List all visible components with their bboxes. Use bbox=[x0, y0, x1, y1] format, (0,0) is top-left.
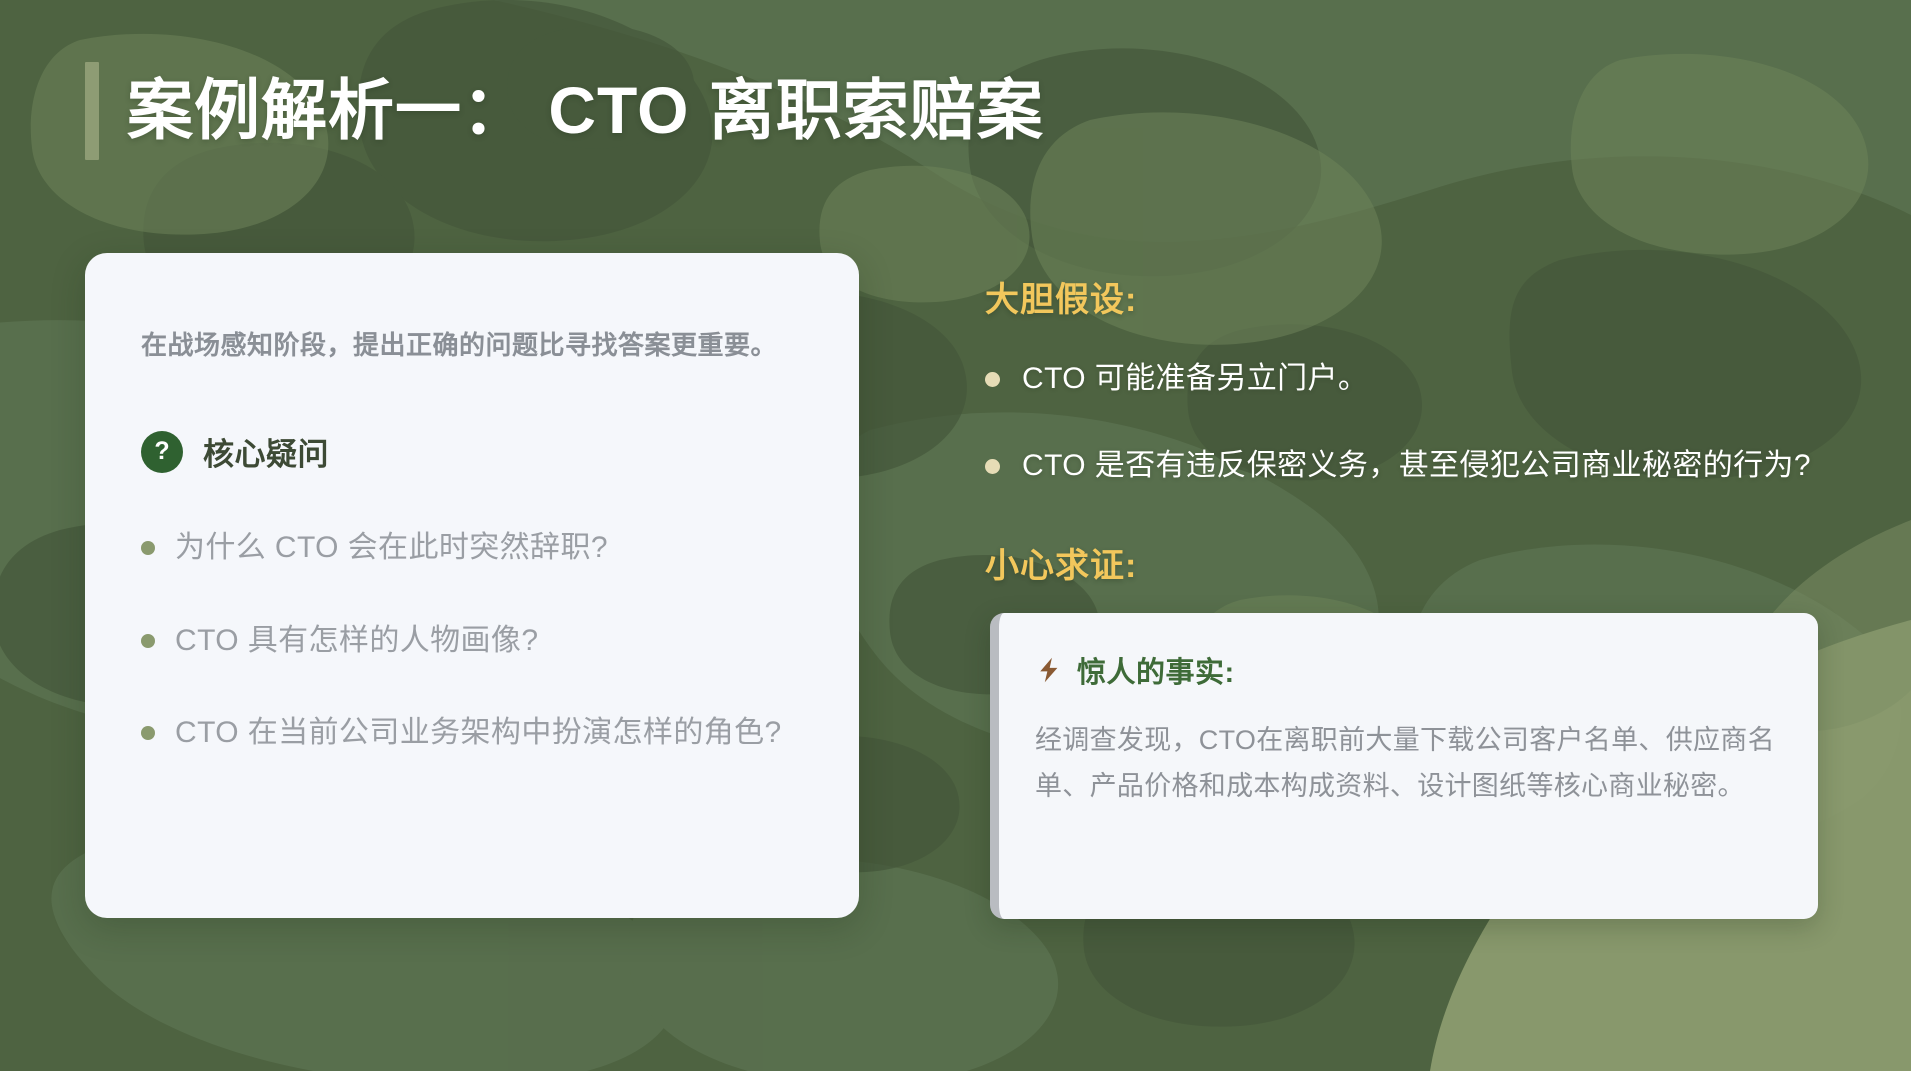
fact-body-text: 经调查发现，CTO在离职前大量下载公司客户名单、供应商名单、产品价格和成本构成资… bbox=[1035, 717, 1776, 810]
question-mark-icon: ? bbox=[141, 431, 183, 473]
fact-heading-row: 惊人的事实: bbox=[1035, 649, 1776, 691]
slide-canvas: 案例解析一： CTO 离职索赔案 在战场感知阶段，提出正确的问题比寻找答案更重要… bbox=[0, 0, 1911, 1071]
list-item: CTO 可能准备另立门户。 bbox=[985, 359, 1845, 400]
core-questions-heading-row: ? 核心疑问 bbox=[141, 429, 803, 474]
bullet-dot-icon bbox=[141, 634, 155, 648]
surprising-fact-card: 惊人的事实: 经调查发现，CTO在离职前大量下载公司客户名单、供应商名单、产品价… bbox=[990, 613, 1818, 919]
list-item: CTO 是否有违反保密义务，甚至侵犯公司商业秘密的行为? bbox=[985, 446, 1845, 487]
fact-heading: 惊人的事实: bbox=[1077, 649, 1235, 691]
lightning-bolt-icon bbox=[1035, 655, 1063, 685]
core-question-text: 为什么 CTO 会在此时突然辞职? bbox=[175, 528, 608, 569]
hypothesis-heading: 大胆假设: bbox=[985, 272, 1845, 321]
core-questions-heading: 核心疑问 bbox=[203, 429, 329, 474]
hypothesis-column: 大胆假设: CTO 可能准备另立门户。 CTO 是否有违反保密义务，甚至侵犯公司… bbox=[985, 272, 1845, 587]
core-question-text: CTO 具有怎样的人物画像? bbox=[175, 621, 538, 662]
bullet-dot-icon bbox=[985, 372, 1000, 387]
list-item: CTO 在当前公司业务架构中扮演怎样的角色? bbox=[141, 713, 803, 754]
slide-header: 案例解析一： CTO 离职索赔案 bbox=[85, 62, 1044, 160]
list-item: 为什么 CTO 会在此时突然辞职? bbox=[141, 528, 803, 569]
verification-heading: 小心求证: bbox=[985, 538, 1845, 587]
core-questions-card: 在战场感知阶段，提出正确的问题比寻找答案更重要。 ? 核心疑问 为什么 CTO … bbox=[85, 253, 859, 918]
core-questions-list: 为什么 CTO 会在此时突然辞职? CTO 具有怎样的人物画像? CTO 在当前… bbox=[141, 528, 803, 754]
page-title: 案例解析一： CTO 离职索赔案 bbox=[127, 76, 1044, 145]
hypothesis-list: CTO 可能准备另立门户。 CTO 是否有违反保密义务，甚至侵犯公司商业秘密的行… bbox=[985, 359, 1845, 486]
hypothesis-text: CTO 是否有违反保密义务，甚至侵犯公司商业秘密的行为? bbox=[1022, 446, 1811, 487]
hypothesis-text: CTO 可能准备另立门户。 bbox=[1022, 359, 1368, 400]
core-question-text: CTO 在当前公司业务架构中扮演怎样的角色? bbox=[175, 713, 782, 754]
bullet-dot-icon bbox=[985, 459, 1000, 474]
bullet-dot-icon bbox=[141, 726, 155, 740]
quote-text: 在战场感知阶段，提出正确的问题比寻找答案更重要。 bbox=[141, 327, 803, 363]
bullet-dot-icon bbox=[141, 541, 155, 555]
list-item: CTO 具有怎样的人物画像? bbox=[141, 621, 803, 662]
title-accent-bar bbox=[85, 62, 99, 160]
